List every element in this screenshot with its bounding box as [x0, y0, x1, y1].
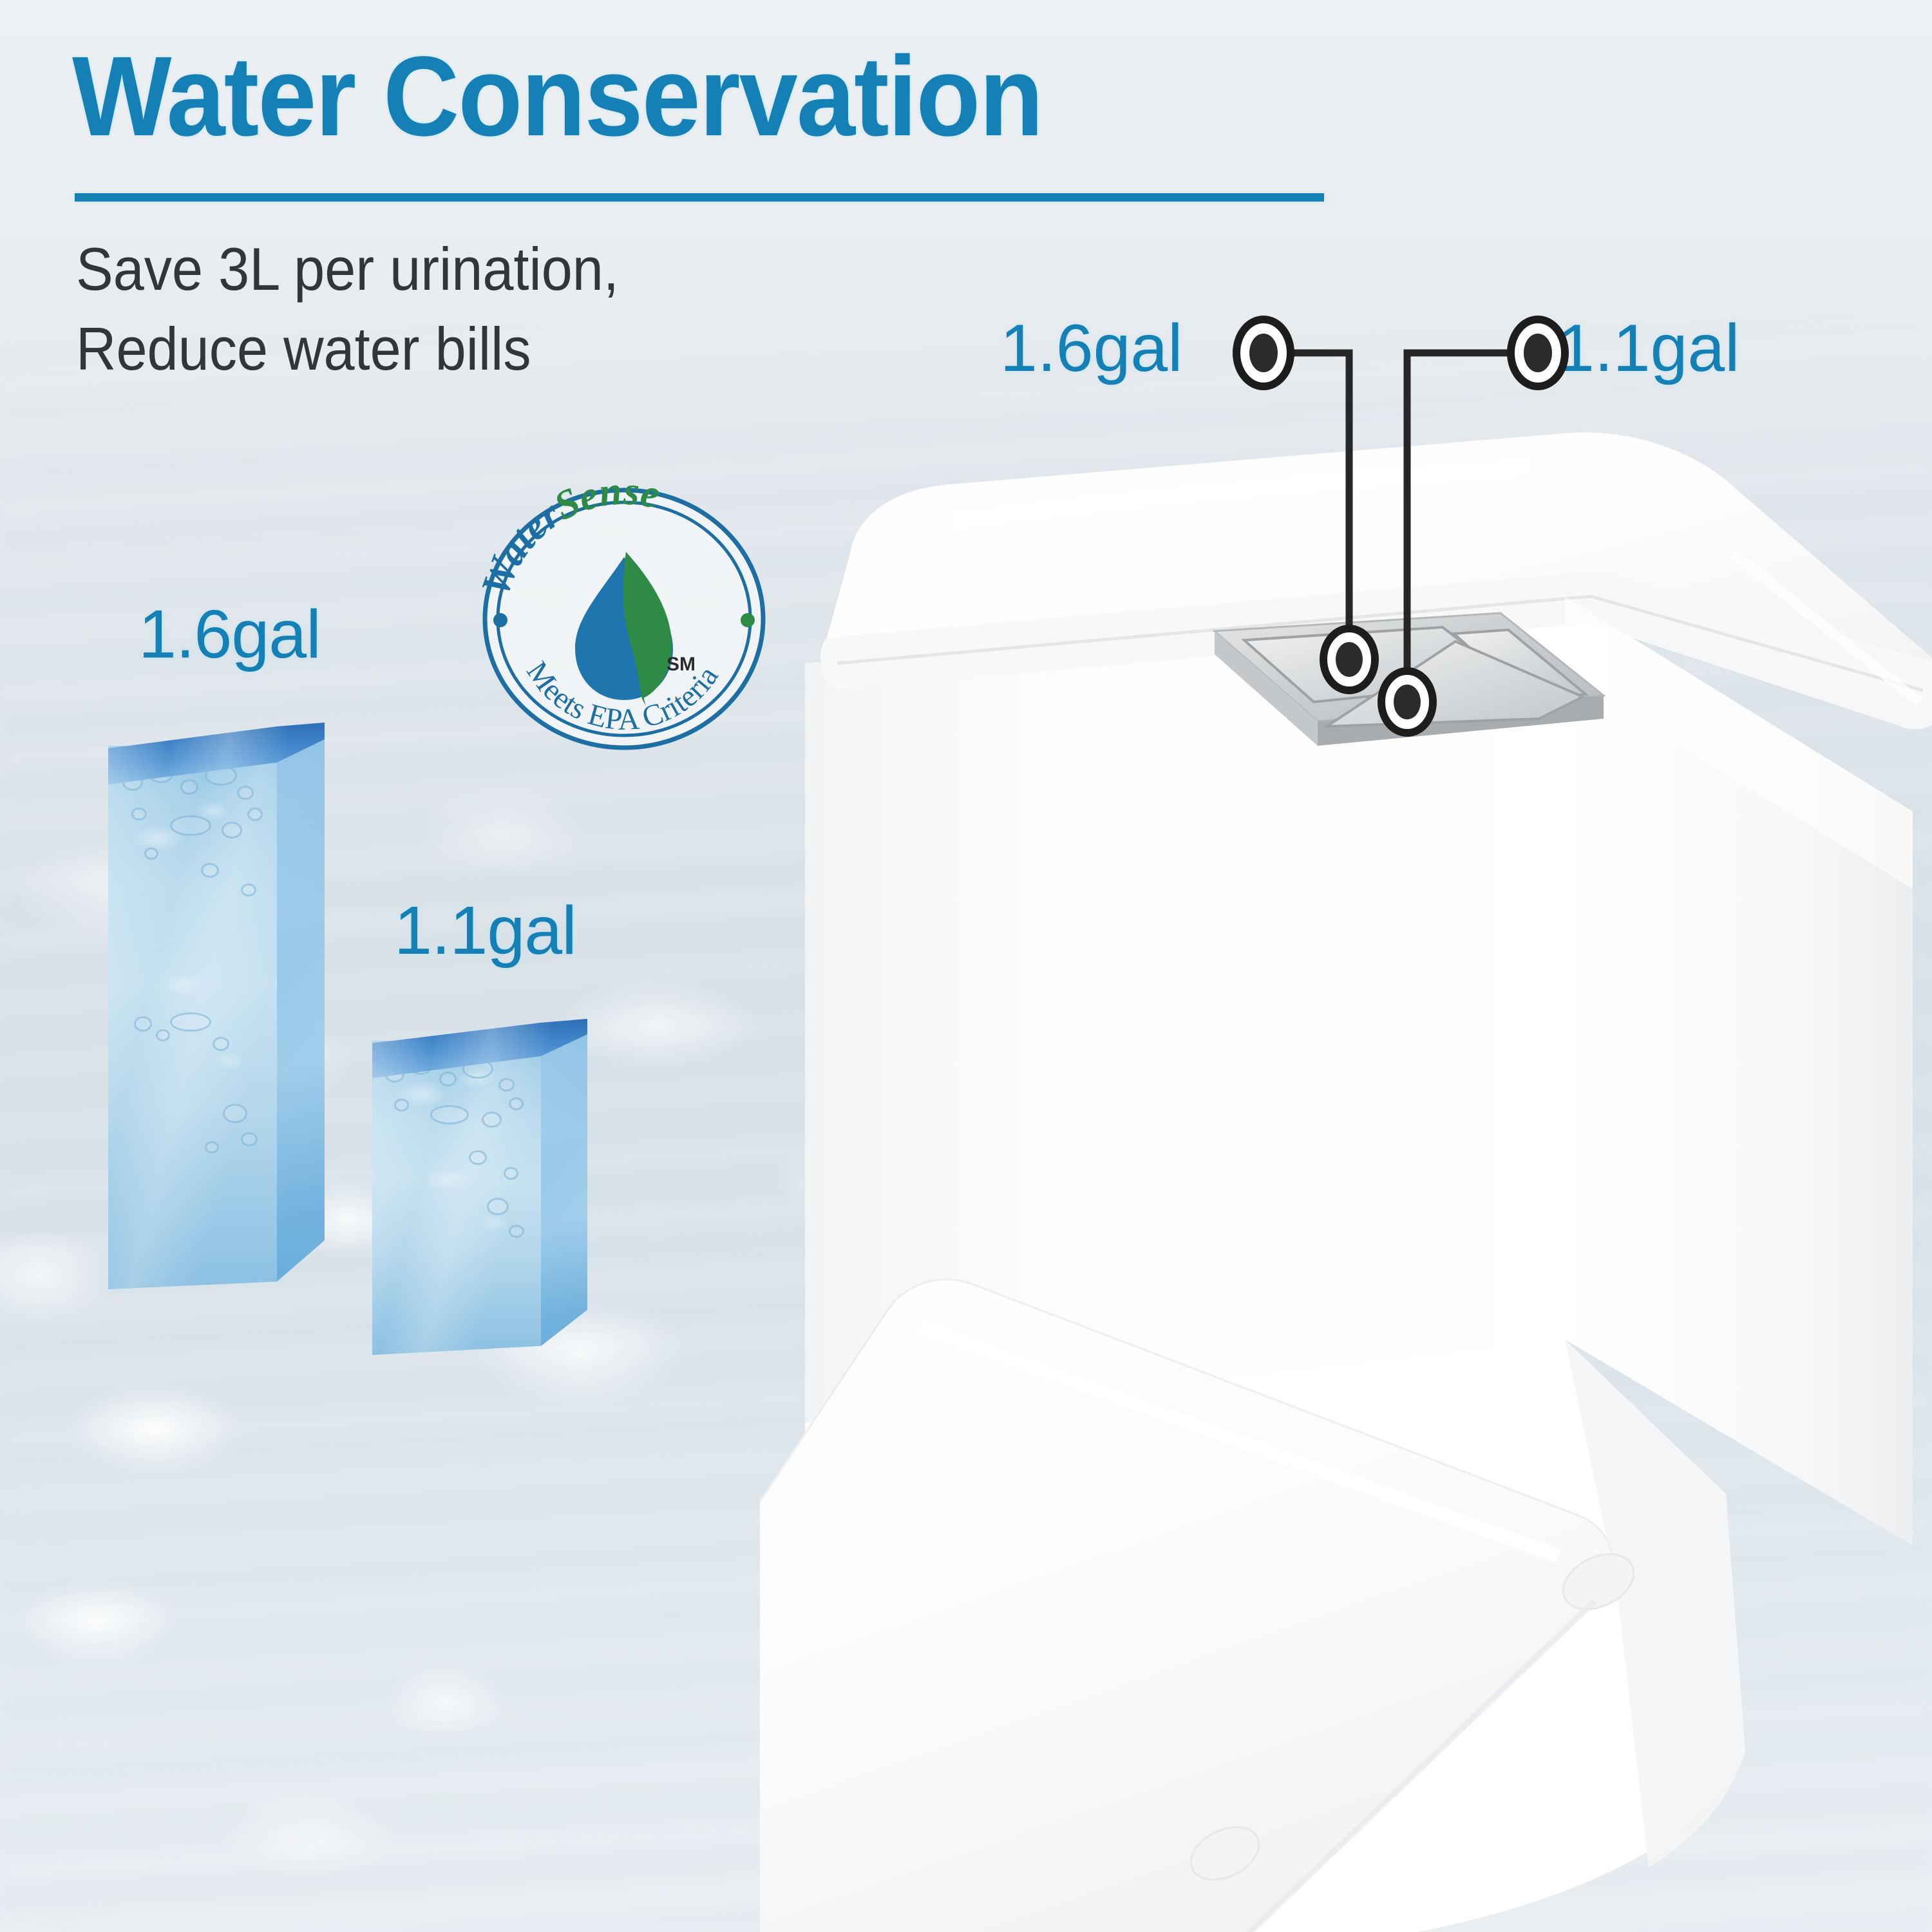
bar-side-face [277, 723, 325, 1289]
page-subtitle: Save 3L per urination, Reduce water bill… [76, 229, 619, 389]
bar-full-flush [108, 723, 277, 1289]
seal-dot-right [741, 613, 755, 627]
bar-half-flush [372, 1019, 541, 1355]
bar-front-face [372, 1041, 541, 1355]
bar-bubbles [108, 746, 277, 1289]
watersense-seal: WaterSense Meets EPA Criteria SM [473, 480, 775, 758]
bar-label-half-flush: 1.1gal [394, 892, 576, 970]
page-title: Water Conservation [72, 40, 1043, 153]
bar-side-face [541, 1019, 587, 1355]
bar-front-face [108, 746, 277, 1289]
seal-service-mark: SM [667, 654, 696, 675]
seal-dot-left [493, 613, 507, 627]
dual-flush-toilet [760, 361, 1932, 1932]
title-underline-rule [75, 193, 1324, 202]
callout-label-full-flush: 1.6gal [1000, 310, 1182, 387]
callout-label-half-flush: 1.1gal [1557, 310, 1739, 387]
bar-bubbles [372, 1041, 541, 1355]
infographic-canvas: Water Conservation Save 3L per urination… [0, 0, 1932, 1932]
bar-label-full-flush: 1.6gal [138, 596, 321, 674]
